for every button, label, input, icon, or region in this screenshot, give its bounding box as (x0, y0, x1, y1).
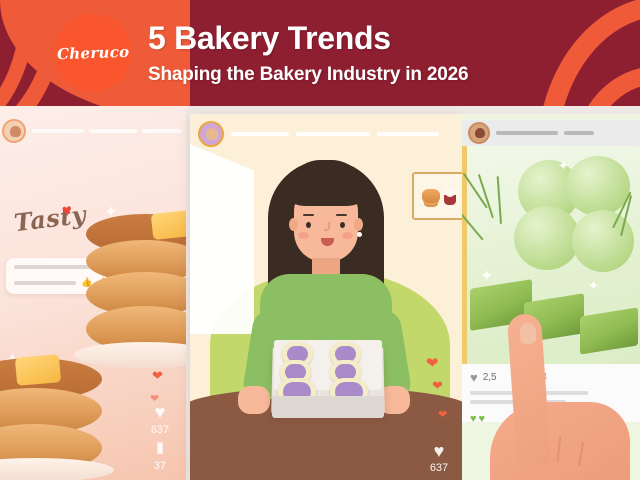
heart-icon[interactable]: ♥ (155, 402, 166, 422)
fingernail (519, 322, 536, 344)
matcha-mochi (514, 206, 580, 270)
right-post-panel[interactable]: ✦ ✦ ✦ ♥ 2,5 34 ♥♥ (462, 114, 640, 480)
doorway-light (190, 144, 254, 334)
pastry-box-front (272, 396, 384, 418)
placeholder-line (231, 132, 289, 136)
center-engagement-stats[interactable]: ♥ 637 (420, 441, 458, 474)
page-subtitle: Shaping the Bakery Industry in 2026 (148, 62, 468, 88)
tasty-caption: Tasty (13, 200, 88, 238)
avatar[interactable] (2, 119, 26, 143)
like-count: 637 (430, 462, 448, 474)
pancake-icon (422, 189, 440, 203)
character-ear (354, 218, 363, 231)
character-blush (298, 232, 309, 239)
placeholder-line (496, 131, 558, 135)
brand-logo: Cheruco (54, 14, 132, 92)
sparkle-icon: ✦ (588, 278, 599, 294)
like-count: 637 (151, 424, 169, 436)
butter-pat (151, 210, 186, 240)
left-header-placeholder-lines (32, 129, 186, 133)
left-post-header (0, 116, 186, 146)
plate (74, 342, 186, 368)
cupcake-icon (443, 187, 457, 205)
header-banner: Cheruco 5 Bakery Trends Shaping the Bake… (0, 0, 640, 106)
placeholder-line (296, 132, 370, 136)
placeholder-line (377, 132, 439, 136)
heart-icon[interactable]: ♥ (470, 370, 478, 385)
placeholder-line (564, 131, 594, 135)
character-hand-left (238, 386, 270, 414)
placeholder-line (142, 129, 182, 133)
earring (357, 232, 362, 237)
avatar[interactable] (468, 122, 490, 144)
character-eye (340, 222, 345, 228)
character-eyebrow (336, 214, 347, 216)
character-blush (342, 232, 353, 239)
sparkle-icon: ✦ (480, 266, 493, 286)
left-engagement-stats[interactable]: ♥ 637 ▮ 37 (140, 402, 180, 472)
sparkle-icon: ✦ (558, 158, 569, 174)
heart-icon: ♥ (61, 201, 73, 222)
matcha-mochi (566, 156, 630, 216)
heart-icon[interactable]: ♥ (434, 441, 445, 461)
wall-picture-frame (412, 172, 462, 220)
page-title: 5 Bakery Trends (148, 18, 468, 58)
content-area: Tasty ♥ ✦ ✦ 👍 👍 🍰 ♥♥ (0, 106, 640, 480)
panel-edge-accent (462, 144, 467, 396)
placeholder-line (32, 129, 84, 133)
infographic-canvas: Cheruco 5 Bakery Trends Shaping the Bake… (0, 0, 640, 480)
placeholder-line (14, 281, 76, 285)
pointing-hand (482, 324, 630, 480)
heart-icon: ❤ (426, 354, 439, 372)
right-post-header (462, 120, 640, 146)
header-titles: 5 Bakery Trends Shaping the Bakery Indus… (148, 18, 468, 88)
character-eyebrow (303, 214, 314, 216)
left-post-panel[interactable]: Tasty ♥ ✦ ✦ 👍 👍 🍰 ♥♥ (0, 106, 186, 480)
heart-icon: ❤ (152, 368, 163, 384)
center-post-header (190, 120, 462, 148)
plate (0, 458, 114, 480)
comment-icon[interactable]: ▮ (156, 438, 164, 458)
butter-pat (15, 354, 61, 386)
center-post-panel[interactable]: ❤ ❤ ❤ ♥ 637 (190, 114, 462, 480)
brand-logo-text: Cheruco (56, 43, 129, 64)
avatar[interactable] (198, 121, 224, 147)
heart-icon: ❤ (432, 378, 443, 394)
character-eye (306, 222, 311, 228)
character-ear (289, 218, 298, 231)
heart-icon: ❤ (438, 408, 447, 421)
comment-count: 37 (154, 460, 166, 472)
placeholder-line (89, 129, 137, 133)
